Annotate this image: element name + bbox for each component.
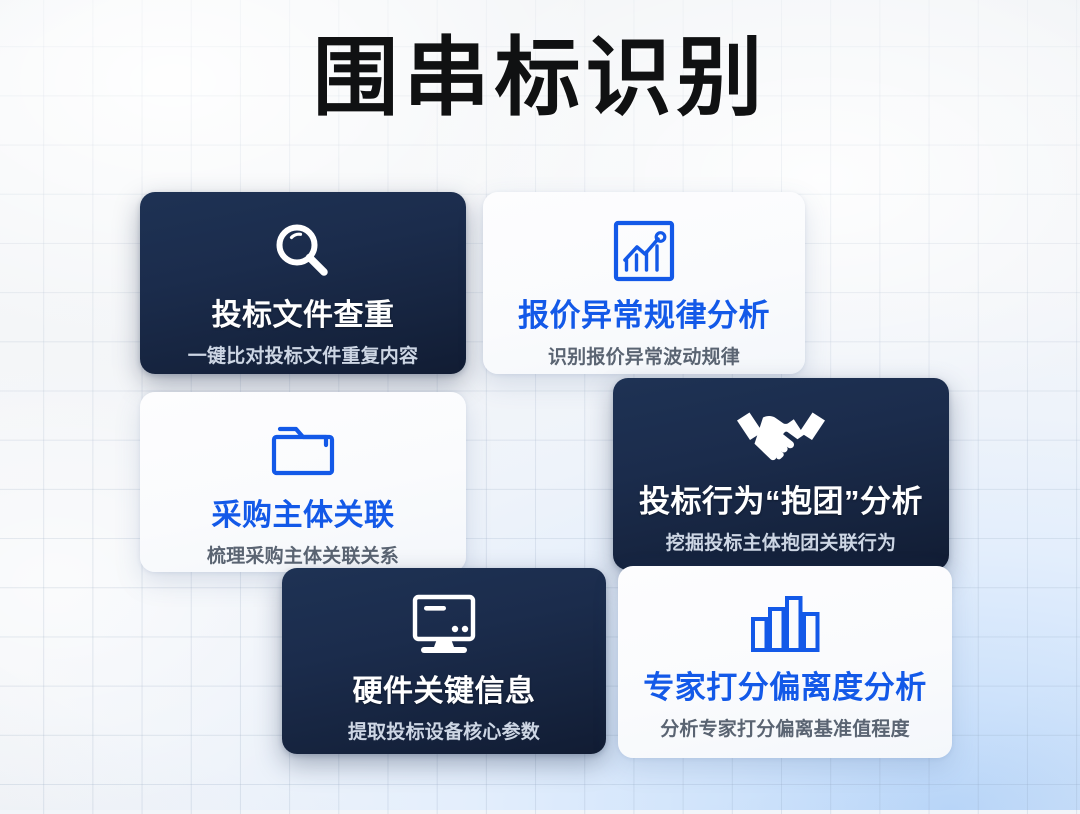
card-subtitle: 分析专家打分偏离基准值程度 — [660, 714, 910, 741]
feature-card-hardware-key-information[interactable]: 硬件关键信息 提取投标设备核心参数 — [282, 568, 606, 754]
card-title: 报价异常规律分析 — [518, 290, 770, 335]
feature-card-expert-scoring-deviation-analysis[interactable]: 专家打分偏离度分析 分析专家打分偏离基准值程度 — [618, 566, 952, 758]
folder-icon — [268, 414, 338, 488]
feature-card-bid-document-duplicate-check[interactable]: 投标文件查重 一键比对投标文件重复内容 — [140, 192, 466, 374]
feature-card-quote-anomaly-pattern-analysis[interactable]: 报价异常规律分析 识别报价异常波动规律 — [483, 192, 805, 374]
trend-chart-icon — [611, 214, 677, 288]
card-title: 投标文件查重 — [212, 290, 395, 334]
handshake-icon — [733, 396, 829, 474]
feature-card-procurement-entity-association[interactable]: 采购主体关联 梳理采购主体关联关系 — [140, 392, 466, 572]
card-subtitle: 梳理采购主体关联关系 — [207, 541, 399, 568]
desktop-computer-icon — [407, 590, 481, 664]
card-title: 采购主体关联 — [212, 490, 395, 534]
card-subtitle: 提取投标设备核心参数 — [348, 717, 540, 744]
card-subtitle: 挖掘投标主体抱团关联行为 — [666, 528, 896, 555]
page-title: 围串标识别 — [0, 34, 1080, 123]
card-title: 专家打分偏离度分析 — [643, 662, 927, 707]
magnifier-icon — [267, 214, 339, 288]
card-subtitle: 识别报价异常波动规律 — [548, 342, 740, 369]
card-title: 硬件关键信息 — [353, 666, 536, 710]
card-subtitle: 一键比对投标文件重复内容 — [188, 341, 418, 368]
card-title: 投标行为“抱团”分析 — [639, 476, 923, 521]
feature-card-bidding-behavior-grouping-analysis[interactable]: 投标行为“抱团”分析 挖掘投标主体抱团关联行为 — [613, 378, 949, 570]
bar-chart-icon — [748, 588, 822, 660]
